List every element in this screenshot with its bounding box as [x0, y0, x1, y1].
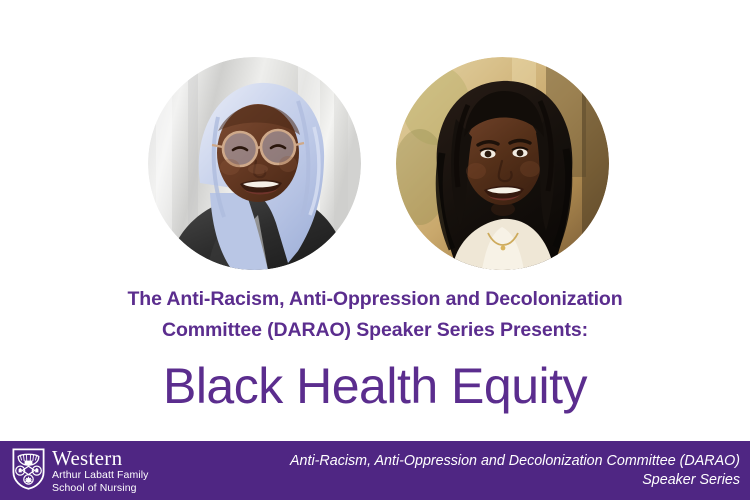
headline-line-2: Committee (DARAO) Speaker Series Present… [0, 315, 750, 346]
western-wordmark: Western [52, 448, 149, 469]
footer-caption-line-2: Speaker Series [200, 471, 740, 490]
faculty-line-2: School of Nursing [52, 482, 149, 495]
speaker-photo-right-image [396, 57, 609, 270]
faculty-line-1: Arthur Labatt Family [52, 469, 149, 482]
page-title: Black Health Equity [0, 356, 750, 416]
headline-line-1: The Anti-Racism, Anti-Oppression and Dec… [0, 284, 750, 315]
western-shield-icon [12, 448, 45, 490]
portrait-row [0, 57, 750, 270]
headline: The Anti-Racism, Anti-Oppression and Dec… [0, 284, 750, 346]
western-wordmark-block: Western Arthur Labatt Family School of N… [52, 448, 149, 494]
footer-band: Western Arthur Labatt Family School of N… [0, 441, 750, 500]
speaker-photo-left [148, 57, 361, 270]
speaker-photo-left-image [148, 57, 361, 270]
speaker-series-poster: The Anti-Racism, Anti-Oppression and Dec… [0, 0, 750, 500]
footer-caption: Anti-Racism, Anti-Oppression and Decolon… [200, 452, 740, 490]
footer-caption-line-1: Anti-Racism, Anti-Oppression and Decolon… [200, 452, 740, 471]
western-logo: Western Arthur Labatt Family School of N… [12, 448, 149, 494]
speaker-photo-right [396, 57, 609, 270]
